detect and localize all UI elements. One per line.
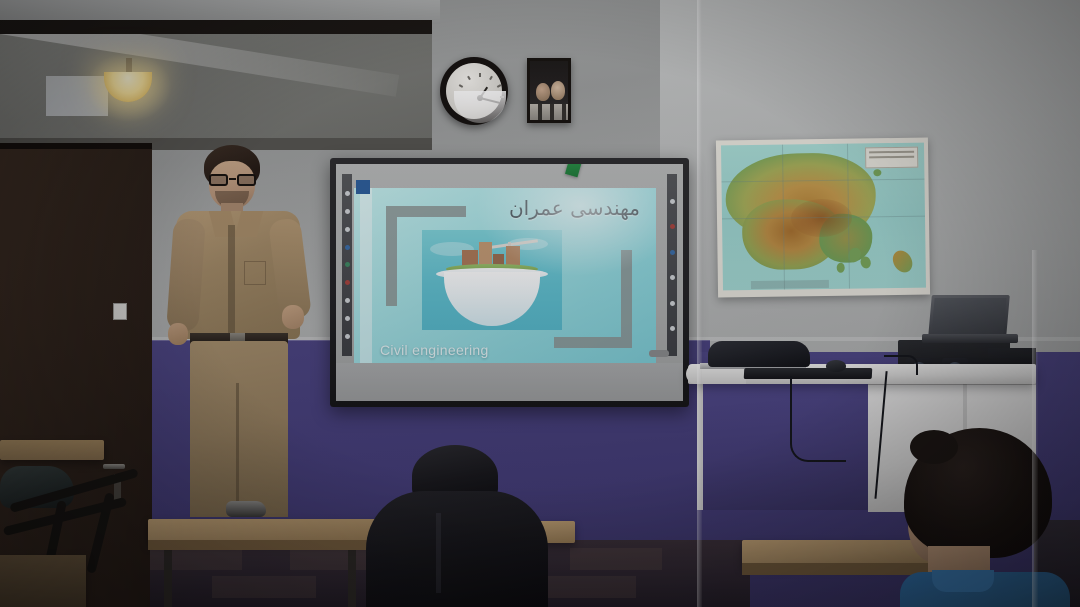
board-pen-slot[interactable]	[649, 350, 669, 357]
clock-tick	[459, 84, 463, 88]
clock-face	[446, 63, 502, 119]
clock-tick	[479, 73, 481, 77]
trouser-seam	[236, 383, 239, 517]
teacher-figure	[168, 145, 308, 517]
map-island	[874, 169, 882, 176]
student-right-figure	[890, 428, 1080, 607]
clock-tick	[497, 84, 501, 88]
teacher-hand-right	[282, 305, 304, 329]
classroom-scene: مهندسی عمران Civil engineering	[0, 0, 1080, 607]
portrait-figure-right	[551, 81, 565, 100]
toolbar-power-icon[interactable]	[670, 199, 675, 204]
student-hair-tuft	[910, 430, 958, 464]
eyeglasses-icon	[208, 174, 257, 186]
cable	[884, 355, 918, 375]
portrait-base	[530, 104, 568, 120]
ceiling-beam	[0, 20, 432, 34]
toolbar-pen-icon[interactable]	[345, 191, 350, 196]
portrait-image	[530, 61, 568, 120]
map-caption-bar	[751, 280, 828, 288]
green-sticky-note[interactable]	[565, 164, 584, 177]
teacher-shirt-placket	[228, 225, 235, 335]
teacher-hand-left	[168, 323, 188, 345]
cable	[790, 376, 846, 462]
portrait-stripe	[550, 104, 554, 120]
student-foreground-body	[366, 491, 548, 607]
student-collar	[932, 570, 994, 592]
whiteboard-surface[interactable]: مهندسی عمران Civil engineering	[336, 164, 683, 401]
board-blue-tab	[356, 180, 370, 194]
portrait-stripe	[562, 104, 566, 120]
teacher-shoe	[226, 501, 266, 517]
toolbar-color-blue-icon[interactable]	[345, 245, 350, 250]
clock-tick	[489, 76, 493, 80]
wall-corner-edge-right	[1032, 250, 1038, 607]
floor-tile	[570, 548, 662, 570]
glasses-bridge	[229, 178, 236, 180]
map-island	[836, 263, 844, 273]
whiteboard-toolbar-left[interactable]	[342, 174, 352, 356]
toolbar-color-green-icon[interactable]	[345, 262, 350, 267]
wall-map-asia	[716, 138, 930, 298]
wall-clock	[440, 57, 508, 125]
map-legend-line	[869, 156, 914, 159]
map-island	[859, 255, 872, 269]
whiteboard-toolbar-right[interactable]	[667, 174, 677, 356]
toolbar-page-down-icon[interactable]	[670, 275, 675, 280]
toolbar-redo-icon[interactable]	[345, 316, 350, 321]
desk-leg	[164, 549, 172, 607]
laptop-bag[interactable]	[708, 341, 810, 367]
map-legend	[865, 147, 918, 168]
laptop-screen[interactable]	[928, 295, 1010, 337]
toolbar-select-icon[interactable]	[345, 227, 350, 232]
mouse[interactable]	[826, 360, 846, 372]
student-foreground-figure	[350, 445, 555, 607]
slide-left-bar	[360, 188, 372, 366]
clock-tick	[467, 76, 471, 80]
desk-left-foreground	[0, 555, 86, 607]
glass-partition	[0, 32, 432, 147]
glasses-lens-left	[209, 174, 228, 186]
floor-tile	[212, 576, 316, 598]
map-legend-line	[869, 151, 914, 154]
framed-portrait	[527, 58, 571, 123]
portrait-stripe	[538, 104, 542, 120]
toolbar-color-red-icon[interactable]	[345, 280, 350, 285]
clothing-fold	[436, 513, 441, 593]
door-top-edge	[0, 143, 152, 149]
toolbar-help-icon[interactable]	[670, 326, 675, 331]
board-pen-tray	[336, 363, 683, 401]
teacher-trousers	[190, 341, 288, 517]
laptop-base[interactable]	[922, 334, 1018, 343]
portrait-figure-left	[536, 83, 550, 101]
toolbar-undo-icon[interactable]	[345, 298, 350, 303]
toolbar-keyboard-icon[interactable]	[670, 301, 675, 306]
toolbar-page-up-icon[interactable]	[670, 250, 675, 255]
interactive-whiteboard[interactable]: مهندسی عمران Civil engineering	[330, 158, 689, 407]
hard-hat-icon	[444, 272, 540, 326]
teacher-shirt-pocket	[244, 261, 266, 285]
map-island	[888, 247, 916, 276]
map-surface	[721, 143, 926, 291]
toolbar-menu-icon[interactable]	[670, 224, 675, 229]
classroom-door[interactable]	[0, 146, 152, 607]
projector-glare	[475, 188, 656, 277]
glasses-lens-right	[237, 174, 256, 186]
laptop-display[interactable]	[931, 298, 1006, 334]
toolbar-eraser-icon[interactable]	[345, 209, 350, 214]
wall-corner-edge	[697, 0, 702, 607]
projected-slide[interactable]: مهندسی عمران Civil engineering	[354, 188, 656, 366]
slide-subtitle-english: Civil engineering	[380, 342, 489, 358]
light-switch[interactable]	[113, 303, 127, 320]
toolbar-save-icon[interactable]	[345, 334, 350, 339]
door-handle-icon[interactable]	[103, 464, 125, 469]
desk-left-rear	[0, 440, 104, 460]
desk-edge	[148, 540, 384, 550]
